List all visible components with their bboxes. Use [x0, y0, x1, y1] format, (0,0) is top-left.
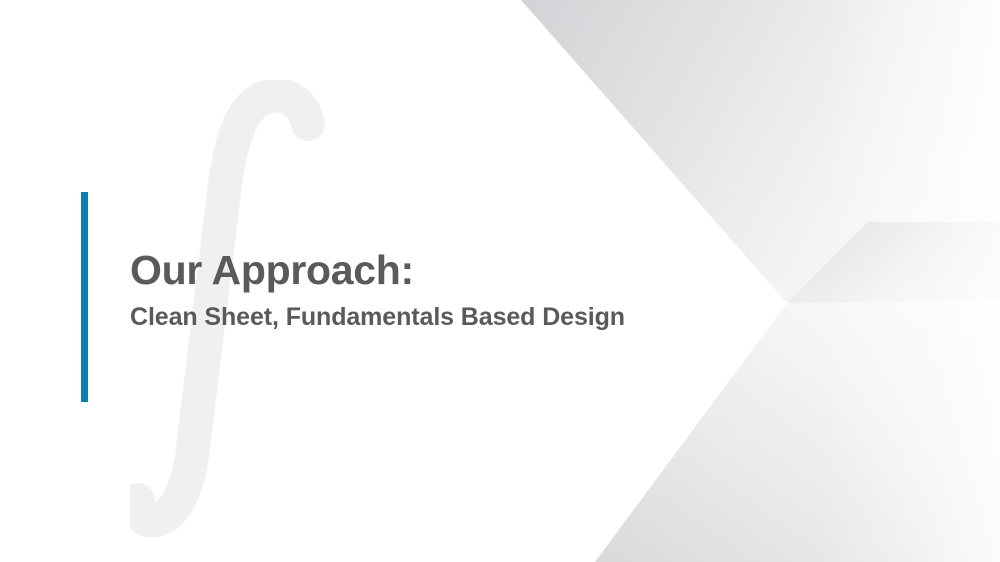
- page-title: Our Approach:: [130, 248, 770, 294]
- slide-canvas: Our Approach: Clean Sheet, Fundamentals …: [0, 0, 1000, 562]
- title-block: Our Approach: Clean Sheet, Fundamentals …: [130, 248, 770, 332]
- page-subtitle: Clean Sheet, Fundamentals Based Design: [130, 302, 770, 332]
- right-highlight-veil: [820, 0, 1000, 562]
- vertical-blue-rule: [81, 192, 88, 402]
